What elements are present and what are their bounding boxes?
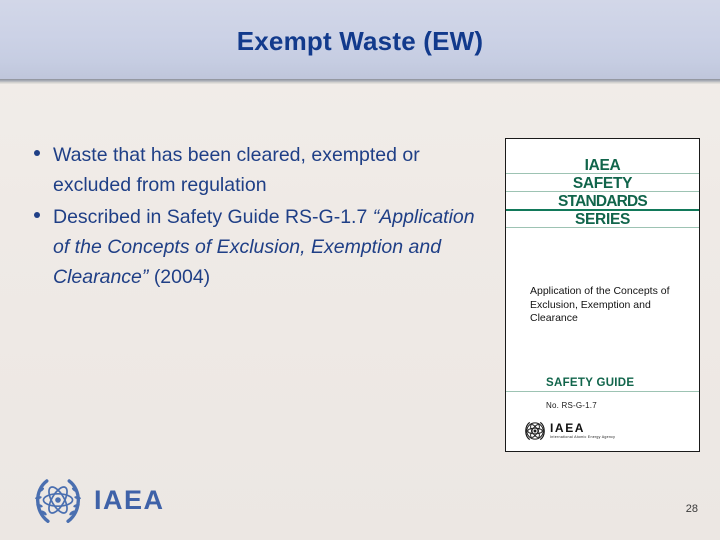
- list-item: Described in Safety Guide RS-G-1.7 “Appl…: [26, 202, 486, 292]
- cover-logo-name: IAEA: [550, 422, 615, 434]
- cover-iaea-logo: IAEA International Atomic Energy Agency: [523, 419, 615, 443]
- iaea-atom-wreath-icon: [30, 472, 86, 528]
- cover-category-row: SAFETY GUIDE: [506, 377, 699, 389]
- page-number: 28: [686, 503, 698, 515]
- title-band-shadow: [0, 79, 720, 84]
- bullet-text-2: Described in Safety Guide RS-G-1.7 “Appl…: [53, 202, 486, 292]
- list-item: Waste that has been cleared, exempted or…: [26, 140, 486, 200]
- bullet-list: Waste that has been cleared, exempted or…: [26, 140, 486, 294]
- slide: Exempt Waste (EW) Waste that has been cl…: [0, 0, 720, 540]
- publication-cover-image: IAEA SAFETY STANDARDS SERIES Application…: [505, 138, 700, 452]
- bullet-dot-icon: [34, 212, 40, 218]
- cover-logo-text: IAEA International Atomic Energy Agency: [550, 422, 615, 440]
- bullet-year-text: (2004): [154, 266, 210, 288]
- cover-masthead: IAEA SAFETY STANDARDS SERIES: [506, 157, 699, 243]
- iaea-atom-wreath-icon: [523, 419, 547, 443]
- cover-masthead-line-4: SERIES: [506, 211, 699, 229]
- bullet-lead-text: Described in Safety Guide RS-G-1.7: [53, 206, 367, 228]
- cover-masthead-line-3: STANDARDS: [506, 193, 699, 211]
- cover-rule: [506, 391, 699, 392]
- bullet-dot-icon: [34, 150, 40, 156]
- page-title: Exempt Waste (EW): [0, 26, 720, 57]
- footer-logo-name: IAEA: [94, 485, 165, 516]
- cover-masthead-line-2: SAFETY: [506, 175, 699, 193]
- cover-logo-subtitle: International Atomic Energy Agency: [550, 435, 615, 440]
- bullet-text-1: Waste that has been cleared, exempted or…: [53, 140, 486, 200]
- footer-iaea-logo: IAEA: [30, 472, 165, 528]
- cover-masthead-line-1: IAEA: [506, 157, 699, 175]
- cover-document-number: No. RS-G-1.7: [546, 401, 597, 410]
- cover-title: Application of the Concepts of Exclusion…: [530, 285, 675, 326]
- cover-category: SAFETY GUIDE: [546, 377, 699, 389]
